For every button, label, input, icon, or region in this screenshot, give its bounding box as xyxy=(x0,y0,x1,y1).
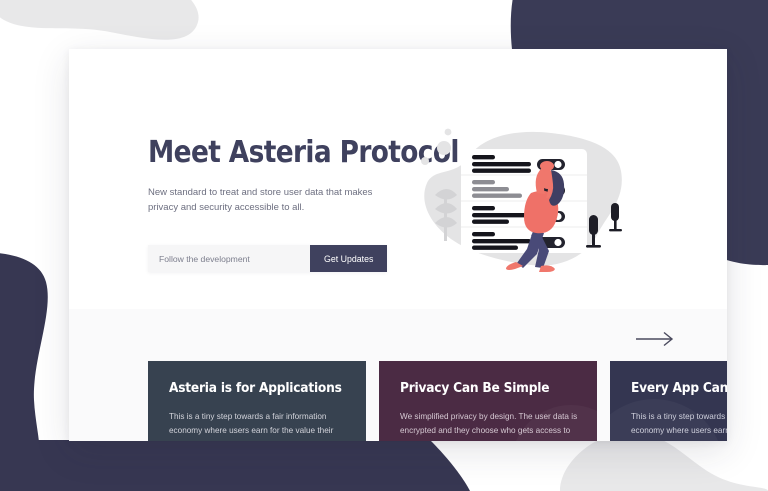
deco-dot-small xyxy=(445,129,452,136)
hero-title: Meet Asteria Protocol xyxy=(148,137,368,169)
features-section: Asteria is for Applications This is a ti… xyxy=(69,309,727,441)
get-updates-button[interactable]: Get Updates xyxy=(310,245,387,272)
deco-dot-medium xyxy=(421,157,429,165)
feature-card-every-app[interactable]: Every App Can Do It This is a tiny step … xyxy=(610,361,727,441)
feature-card-title: Asteria is for Applications xyxy=(169,380,327,396)
deco-dot-large xyxy=(437,141,451,155)
blob-top-left-gray xyxy=(0,0,199,40)
browser-window: Meet Asteria Protocol New standard to tr… xyxy=(69,49,727,441)
arrow-right-icon[interactable] xyxy=(635,331,677,347)
feature-card-privacy[interactable]: Privacy Can Be Simple We simplified priv… xyxy=(379,361,597,441)
feature-card-title: Every App Can Do It xyxy=(631,380,727,396)
feature-card-body: This is a tiny step towards a fair infor… xyxy=(169,410,349,441)
email-field[interactable] xyxy=(148,245,310,272)
feature-card-body: This is a tiny step towards a fair infor… xyxy=(631,410,727,441)
feature-card-title: Privacy Can Be Simple xyxy=(400,380,558,396)
feature-cards-row: Asteria is for Applications This is a ti… xyxy=(148,361,727,441)
screenshot-stage: Meet Asteria Protocol New standard to tr… xyxy=(0,0,768,491)
feature-card-body: We simplified privacy by design. The use… xyxy=(400,410,580,439)
shoe-back xyxy=(539,265,555,272)
privacy-settings-illustration xyxy=(411,123,641,278)
hero-subtitle: New standard to treat and store user dat… xyxy=(148,185,380,216)
hero-section: Meet Asteria Protocol New standard to tr… xyxy=(69,49,727,309)
hero-text-block: Meet Asteria Protocol New standard to tr… xyxy=(148,137,398,216)
feature-card-applications[interactable]: Asteria is for Applications This is a ti… xyxy=(148,361,366,441)
blob-bottom-left-navy xyxy=(0,440,470,491)
signup-form[interactable]: Get Updates xyxy=(148,245,387,272)
settings-panel xyxy=(461,149,587,253)
